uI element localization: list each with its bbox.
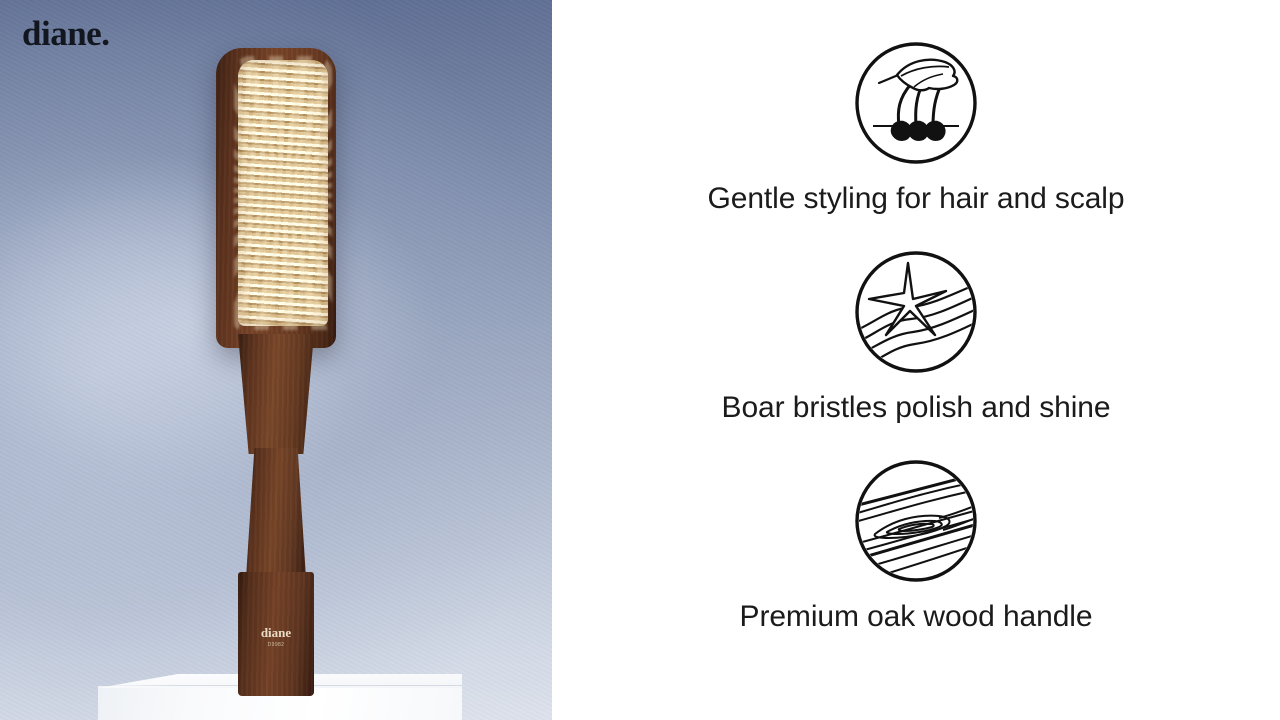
brush-neck-wood-grain <box>238 334 314 454</box>
brand-logo: diane. <box>22 16 109 51</box>
feature-label-oak-handle: Premium oak wood handle <box>740 600 1093 633</box>
handle-product-code: D9982 <box>261 642 291 648</box>
brand-logo-mark: . <box>101 14 109 53</box>
brush-waist <box>246 448 306 578</box>
feature-item-gentle-styling: Gentle styling for hair and scalp <box>552 40 1280 215</box>
feature-label-gentle-styling: Gentle styling for hair and scalp <box>708 182 1125 215</box>
sparkle-shine-hair-icon <box>853 249 979 375</box>
feature-item-boar-bristles: Boar bristles polish and shine <box>552 249 1280 424</box>
feature-item-oak-handle: Premium oak wood handle <box>552 458 1280 633</box>
brand-logo-text: diane <box>22 14 101 53</box>
feature-list-panel: Gentle styling for hair and scalp Boar b… <box>552 0 1280 720</box>
brush-bristles <box>238 60 328 326</box>
product-hair-brush: diane D9982 <box>210 48 342 696</box>
brush-neck <box>238 334 314 454</box>
brush-waist-wood-grain <box>246 448 306 578</box>
handle-brand-text: diane <box>261 626 291 640</box>
feature-label-boar-bristles: Boar bristles polish and shine <box>722 391 1111 424</box>
product-image-panel: diane. diane D9982 <box>0 0 552 720</box>
feather-hair-follicles-icon <box>853 40 979 166</box>
wood-grain-icon <box>853 458 979 584</box>
handle-branding: diane D9982 <box>261 626 291 648</box>
brush-head <box>216 48 336 348</box>
